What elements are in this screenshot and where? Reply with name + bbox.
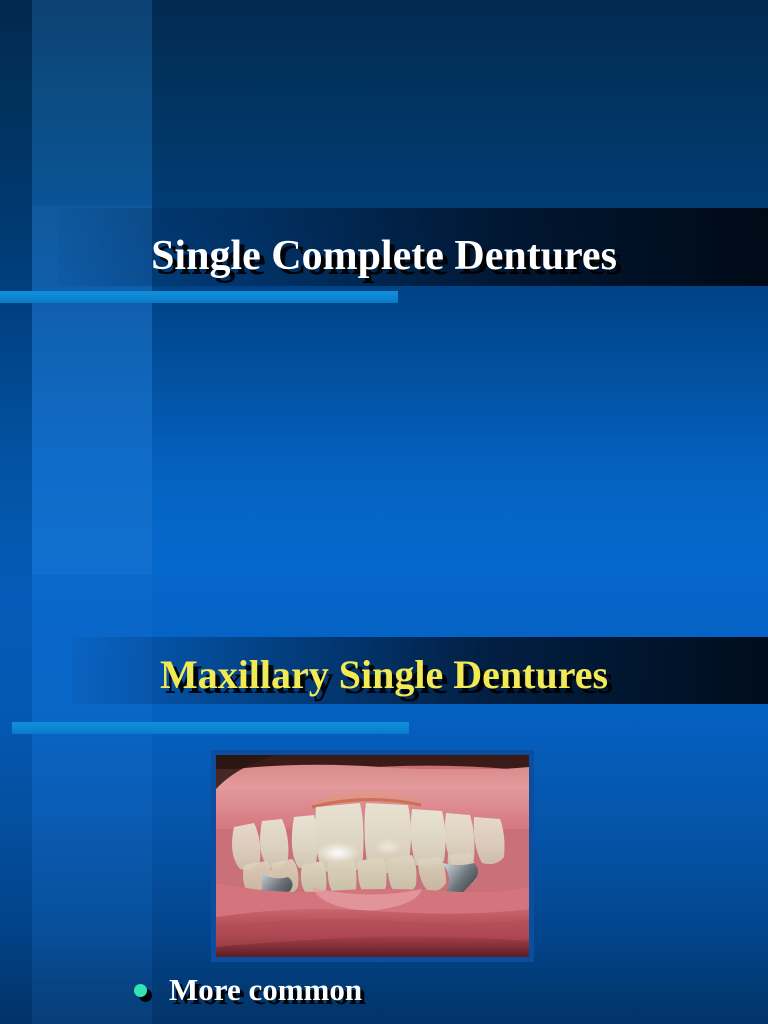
intraoral-photo-graphic [216, 755, 529, 957]
background-band-left [0, 575, 32, 1024]
slide-2-title: Maxillary Single Dentures [0, 651, 768, 698]
slide-1: Single Complete Dentures [0, 0, 768, 575]
slide-1-title: Single Complete Dentures [0, 232, 768, 280]
presentation-page: Single Complete Dentures Maxillary Singl… [0, 0, 768, 1024]
intraoral-photo-frame [211, 750, 534, 962]
background-band-right [152, 0, 768, 575]
bullet-dot-icon [134, 984, 147, 997]
slide-1-accent-bar [0, 291, 398, 303]
bullet-label: More common [169, 972, 362, 1008]
intraoral-photo [216, 755, 529, 957]
slide-2-accent-bar [12, 722, 409, 734]
background-band-left [0, 0, 32, 575]
bullet-item-more-common: More common [134, 972, 362, 1008]
